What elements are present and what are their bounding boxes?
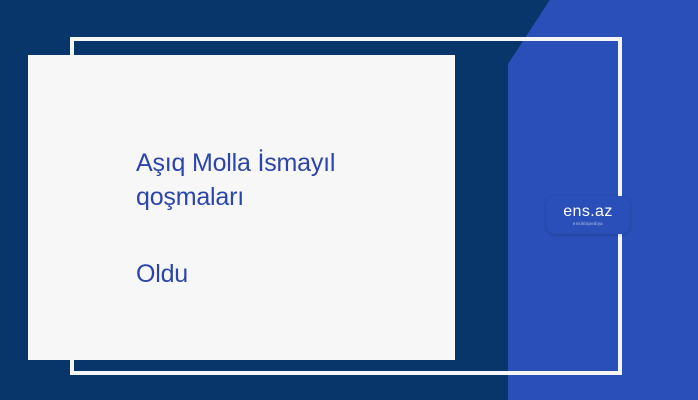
- content-card: Aşıq Molla İsmayıl qoşmaları Oldu: [28, 55, 455, 360]
- page-subtitle: Oldu: [136, 258, 436, 292]
- page-title: Aşıq Molla İsmayıl qoşmaları: [136, 147, 436, 214]
- ens-az-logo-badge[interactable]: ens.az ensiklopediya: [546, 196, 630, 234]
- slide-canvas: Aşıq Molla İsmayıl qoşmaları Oldu ens.az…: [0, 0, 698, 400]
- accent-wedge-bottom: [0, 360, 698, 400]
- logo-tagline: ensiklopediya: [573, 222, 603, 226]
- card-text-block: Aşıq Molla İsmayıl qoşmaları Oldu: [136, 147, 436, 292]
- logo-wordmark: ens.az: [563, 204, 613, 220]
